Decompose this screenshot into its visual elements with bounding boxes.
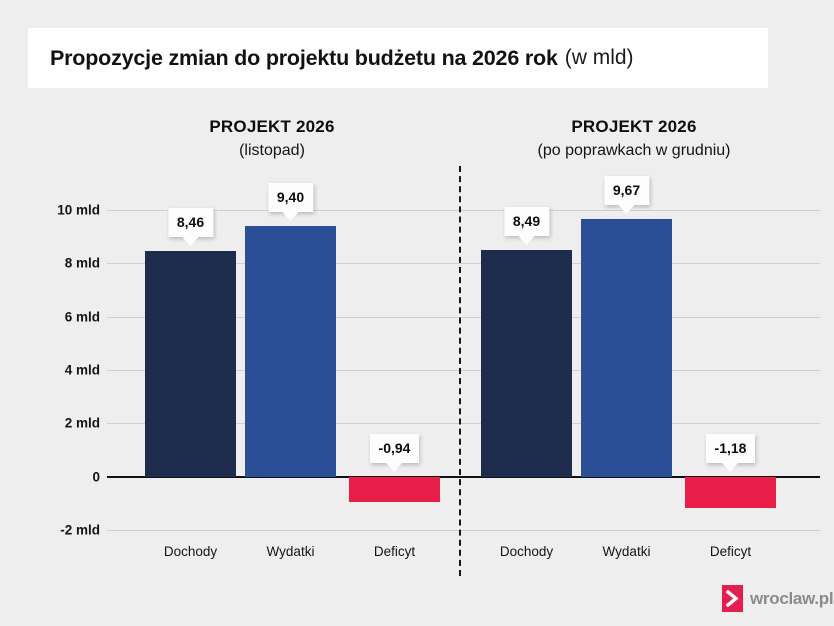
panel-header-right: PROJEKT 2026 (po poprawkach w grudniu) [484,116,784,162]
y-tick-label: 2 mld [34,416,100,431]
value-label-wydatki-panel1: 9,40 [268,183,313,212]
y-tick-label: -2 mld [34,523,100,538]
category-label-dochody-panel2: Dochody [500,544,553,559]
gridline [107,210,820,211]
bar-wydatki-panel1[interactable] [245,226,336,477]
bar-deficyt-panel2[interactable] [685,477,776,508]
category-label-deficyt-panel2: Deficyt [710,544,751,559]
page-title: Propozycje zmian do projektu budżetu na … [50,46,558,71]
y-tick-label: 6 mld [34,309,100,324]
y-tick-label: 0 [34,469,100,484]
y-axis: 10 mld8 mld6 mld4 mld2 mld0-2 mld [30,210,100,530]
category-label-wydatki-panel1: Wydatki [267,544,315,559]
logo-text: wroclaw.pl [750,590,833,607]
panel-header-left: PROJEKT 2026 (listopad) [122,116,422,162]
y-tick-label: 10 mld [34,203,100,218]
panel-divider [459,166,461,576]
bar-wydatki-panel2[interactable] [581,219,672,477]
chart-plot-area [107,210,820,530]
category-label-deficyt-panel1: Deficyt [374,544,415,559]
chevron-right-icon [722,585,743,612]
value-label-deficyt-panel2: -1,18 [706,434,756,463]
category-label-wydatki-panel2: Wydatki [603,544,651,559]
title-banner: Propozycje zmian do projektu budżetu na … [28,28,768,88]
value-label-dochody-panel2: 8,49 [504,207,549,236]
value-label-deficyt-panel1: -0,94 [370,434,420,463]
gridline [107,530,820,531]
bar-dochody-panel1[interactable] [145,251,236,477]
y-tick-label: 4 mld [34,363,100,378]
wroclaw-logo[interactable]: wroclaw.pl [722,585,833,612]
panel-right-note: (po poprawkach w grudniu) [484,140,784,162]
y-tick-label: 8 mld [34,256,100,271]
bar-dochody-panel2[interactable] [481,250,572,476]
value-label-dochody-panel1: 8,46 [168,208,213,237]
value-label-wydatki-panel2: 9,67 [604,176,649,205]
panel-left-title: PROJEKT 2026 [122,116,422,138]
category-label-dochody-panel1: Dochody [164,544,217,559]
page-title-unit: (w mld) [565,46,634,70]
bar-deficyt-panel1[interactable] [349,477,440,502]
panel-right-title: PROJEKT 2026 [484,116,784,138]
panel-left-note: (listopad) [122,140,422,162]
